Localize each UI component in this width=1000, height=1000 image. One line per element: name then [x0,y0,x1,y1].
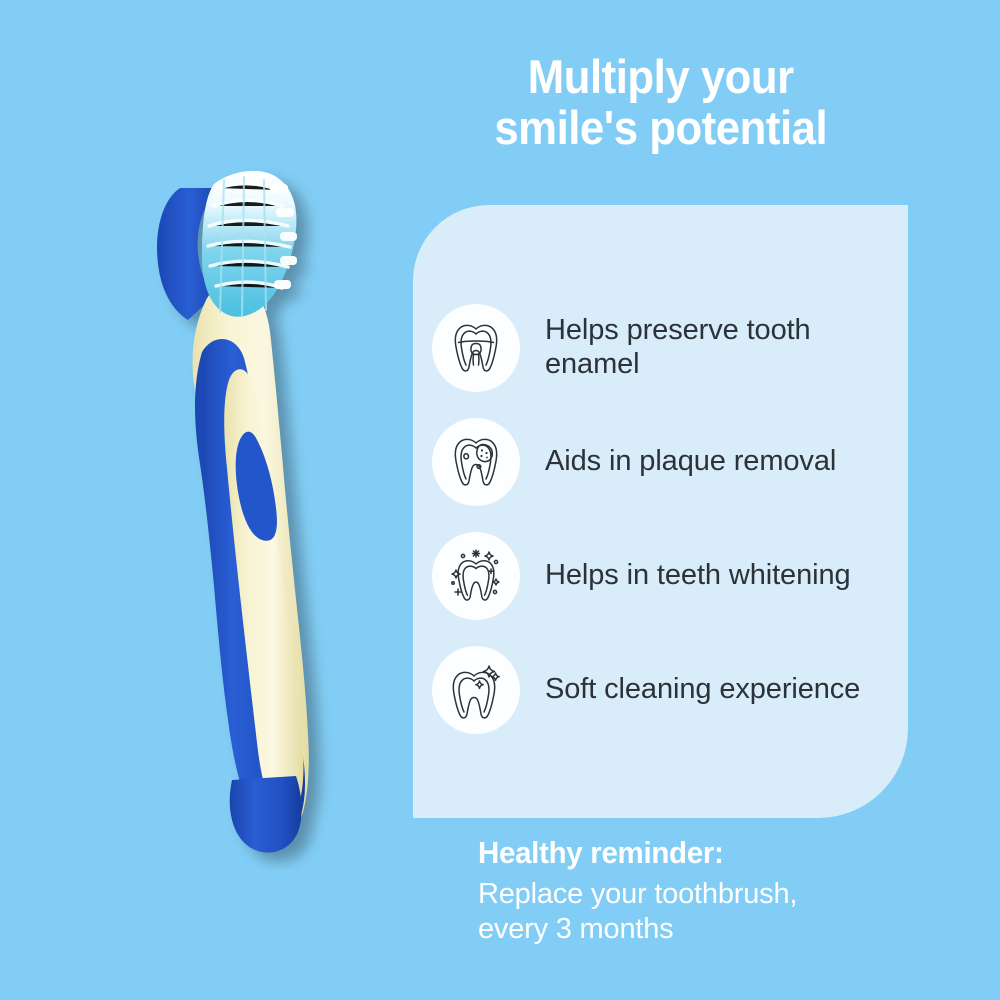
healthy-reminder-title: Healthy reminder: [478,836,925,870]
benefits-panel: Helps preserve tooth enamel [413,205,908,818]
list-item-label: Helps in teeth whitening [545,559,851,593]
tooth-soft-clean-icon [432,646,520,734]
poster-canvas: Multiply your smile's potential [0,0,1000,1000]
list-item: Helps in teeth whitening [432,531,892,621]
tooth-enamel-cross-section-icon [432,304,520,392]
headline-line-2: smile's potential [452,103,871,154]
list-item-label: Soft cleaning experience [545,673,860,707]
list-item: Aids in plaque removal [432,417,892,507]
list-item-label: Aids in plaque removal [545,445,836,479]
tooth-plaque-icon [432,418,520,506]
headline-line-1: Multiply your [452,52,871,103]
list-item: Soft cleaning experience [432,645,892,735]
list-item-label: Helps preserve tooth enamel [545,314,892,381]
healthy-reminder: Healthy reminder: Replace your toothbrus… [478,836,948,947]
tooth-whitening-sparkle-icon [432,532,520,620]
page-title: Multiply your smile's potential [452,52,871,154]
healthy-reminder-line-2: every 3 months [478,912,948,947]
list-item: Helps preserve tooth enamel [432,303,892,393]
toothbrush-photo [110,140,390,870]
healthy-reminder-line-1: Replace your toothbrush, [478,877,948,912]
healthy-reminder-body: Replace your toothbrush, every 3 months [478,877,948,947]
